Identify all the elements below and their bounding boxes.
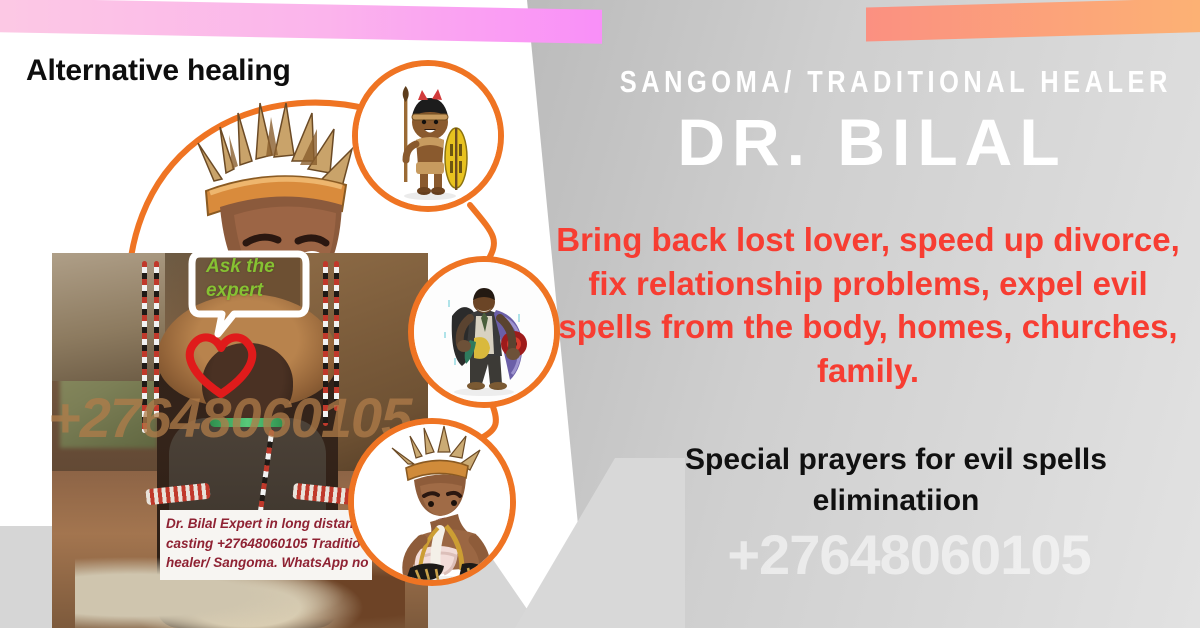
speech-bubble-text: Ask the expert <box>206 255 314 303</box>
caption-line-2: casting +27648060105 Traditio <box>166 534 366 554</box>
brand-name: DR. BILAL <box>560 108 1184 177</box>
prayers-text: Special prayers for evil spells eliminat… <box>600 440 1192 521</box>
circle-robed-healer <box>408 256 560 408</box>
zulu-warrior-icon <box>358 66 498 206</box>
circle-crouching-dancer <box>348 418 516 586</box>
panel-phone-watermark: +27648060105 <box>620 522 1198 587</box>
kicker-text: SANGOMA/ TRADITIONAL HEALER <box>620 64 1128 100</box>
photo-phone-watermark: +27648060105 <box>48 385 411 450</box>
robed-healer-icon <box>414 262 554 402</box>
photo-caption-box: Dr. Bilal Expert in long distan casting … <box>160 510 372 580</box>
services-text: Bring back lost lover, speed up divorce,… <box>548 218 1188 392</box>
circle-zulu-warrior <box>352 60 504 212</box>
crouching-dancer-icon <box>354 424 510 580</box>
poster-canvas: Alternative healing <box>0 0 1200 628</box>
caption-line-1: Dr. Bilal Expert in long distan <box>166 514 366 534</box>
caption-line-3: healer/ Sangoma. WhatsApp no <box>166 553 366 573</box>
